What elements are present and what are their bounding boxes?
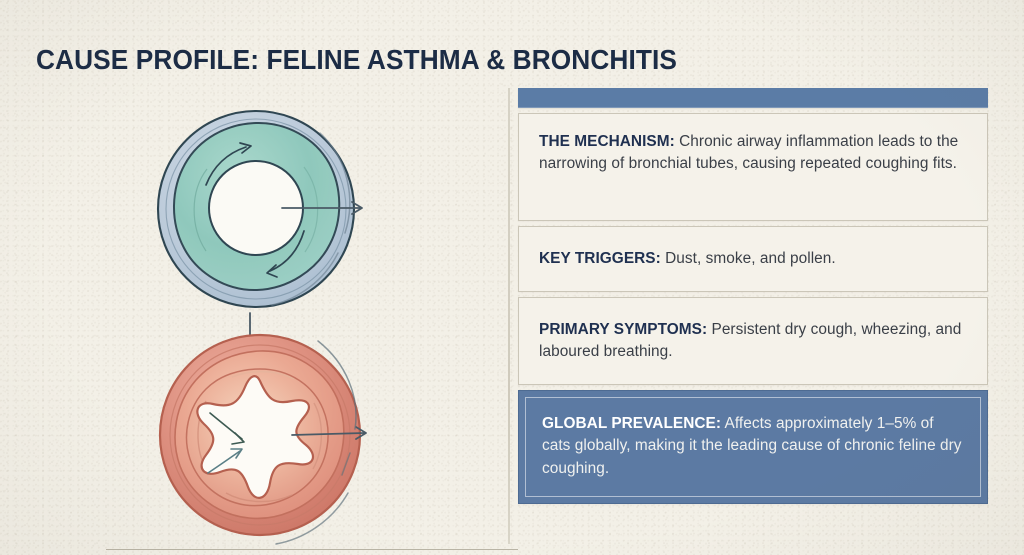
panel-column-divider [508,88,510,544]
panel-header-bar [518,88,988,108]
panel-mechanism-text: THE MECHANISM: Chronic airway inflammati… [539,131,967,176]
panel-triggers-label: KEY TRIGGERS: [539,250,661,267]
panel-triggers-text: KEY TRIGGERS: Dust, smoke, and pollen. [539,248,836,270]
info-panel-prevalence[interactable]: GLOBAL PREVALENCE: Affects approximately… [518,390,988,504]
panel-symptoms-text: PRIMARY SYMPTOMS: Persistent dry cough, … [539,319,967,364]
infographic-canvas: CAUSE PROFILE: FELINE ASTHMA & BRONCHITI… [0,0,1024,555]
healthy-airway-diagram [152,103,370,321]
panel-mechanism-label: THE MECHANISM: [539,133,675,150]
info-panel-triggers[interactable]: KEY TRIGGERS: Dust, smoke, and pollen. [518,226,988,292]
panel-prevalence-inner-frame: GLOBAL PREVALENCE: Affects approximately… [525,397,981,497]
information-panel-column: THE MECHANISM: Chronic airway inflammati… [518,88,988,504]
page-title: CAUSE PROFILE: FELINE ASTHMA & BRONCHITI… [36,44,677,76]
panel-symptoms-label: PRIMARY SYMPTOMS: [539,321,707,338]
panel-prevalence-label: GLOBAL PREVALENCE: [542,415,721,432]
info-panel-symptoms[interactable]: PRIMARY SYMPTOMS: Persistent dry cough, … [518,297,988,385]
airway-diagram-column [120,95,460,545]
info-panel-mechanism[interactable]: THE MECHANISM: Chronic airway inflammati… [518,113,988,221]
inflamed-airway-diagram [152,325,376,549]
bottom-rule [106,549,518,550]
panel-prevalence-text: GLOBAL PREVALENCE: Affects approximately… [542,413,964,480]
panel-triggers-body: Dust, smoke, and pollen. [661,250,836,267]
